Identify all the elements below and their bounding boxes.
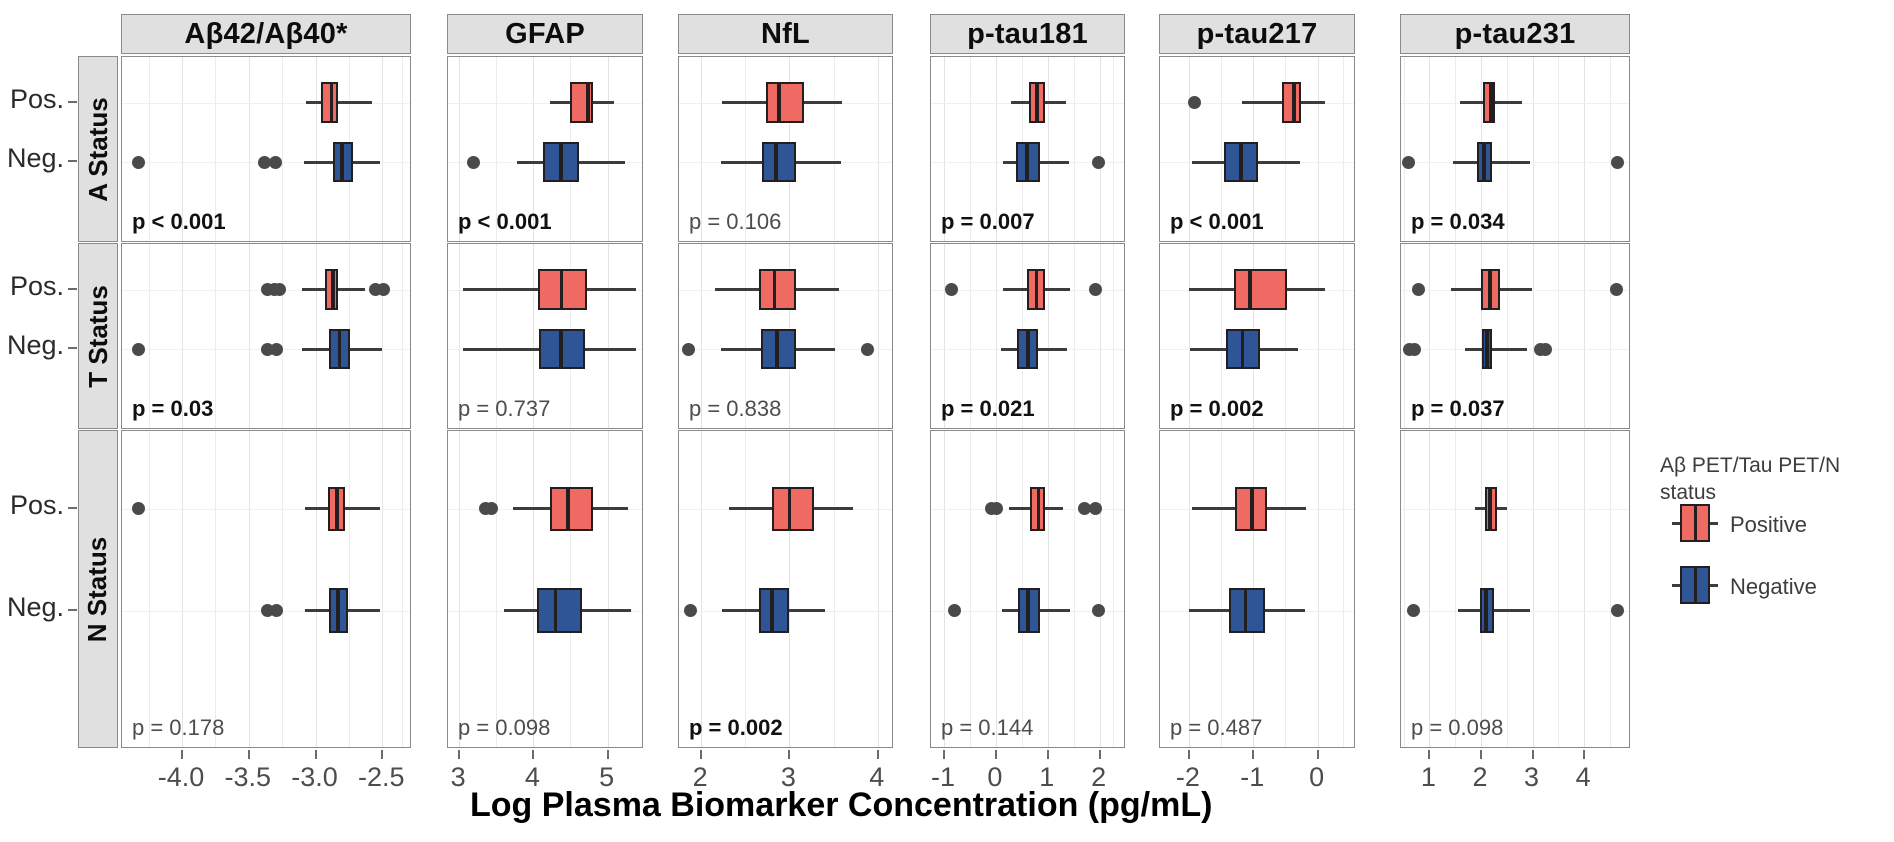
- median-line: [331, 269, 335, 310]
- box-negative[interactable]: [537, 588, 582, 633]
- y-tick: [68, 101, 77, 103]
- grid-major: [459, 431, 460, 747]
- grid-minor: [1610, 244, 1611, 428]
- outlier-point: [467, 156, 480, 169]
- outlier-point: [1412, 283, 1425, 296]
- median-line: [774, 142, 778, 183]
- median-line: [560, 269, 564, 310]
- p-value-N_Status-GFAP: p = 0.098: [458, 715, 550, 741]
- grid-major: [182, 431, 183, 747]
- grid-major: [1048, 57, 1049, 241]
- grid-minor: [970, 431, 971, 747]
- column-strip-Abeta42_Abeta40: Aβ42/Aβ40*: [121, 14, 411, 54]
- grid-major: [789, 431, 790, 747]
- outlier-point: [684, 604, 697, 617]
- median-line: [1489, 82, 1493, 123]
- x-tick: [1428, 750, 1430, 759]
- panel-T_Status-NfL: p = 0.838: [678, 243, 893, 429]
- whisker-negative: [1465, 348, 1527, 351]
- box-positive[interactable]: [759, 269, 796, 310]
- x-tick: [532, 750, 534, 759]
- panel-A_Status-Abeta42_Abeta40: p < 0.001: [121, 56, 411, 242]
- grid-minor: [282, 431, 283, 747]
- legend-title-line1: Aβ PET/Tau PET/N: [1660, 452, 1894, 479]
- outlier-point: [945, 283, 958, 296]
- grid-major: [382, 244, 383, 428]
- median-line: [1025, 142, 1029, 183]
- x-tick: [1480, 750, 1482, 759]
- median-line: [330, 82, 334, 123]
- grid-minor: [1343, 57, 1344, 241]
- grid-minor: [282, 57, 283, 241]
- x-tick: [700, 750, 702, 759]
- x-tick-label: 3: [451, 762, 466, 793]
- grid-major: [1048, 431, 1049, 747]
- column-strip-p-tau181: p-tau181: [930, 14, 1125, 54]
- p-value-T_Status-p-tau217: p = 0.002: [1170, 396, 1264, 422]
- x-tick: [788, 750, 790, 759]
- panel-A_Status-GFAP: p < 0.001: [447, 56, 643, 242]
- grid-minor: [402, 57, 403, 241]
- median-line: [777, 82, 781, 123]
- median-line: [1244, 588, 1248, 633]
- x-tick: [1252, 750, 1254, 759]
- panel-A_Status-NfL: p = 0.106: [678, 56, 893, 242]
- grid-minor: [1404, 57, 1405, 241]
- grid-major: [316, 244, 317, 428]
- column-strip-label: p-tau181: [967, 18, 1088, 51]
- y-tick: [68, 288, 77, 290]
- grid-major: [1429, 431, 1430, 747]
- median-line: [559, 329, 563, 370]
- grid-major: [1318, 57, 1319, 241]
- outlier-point: [1092, 604, 1105, 617]
- median-line: [1035, 269, 1039, 310]
- grid-minor: [834, 57, 835, 241]
- p-value-N_Status-p-tau181: p = 0.144: [941, 715, 1033, 741]
- median-line: [335, 487, 339, 532]
- x-tick: [1099, 750, 1101, 759]
- outlier-point: [1611, 604, 1624, 617]
- panel-T_Status-GFAP: p = 0.737: [447, 243, 643, 429]
- x-tick-label: -1: [1240, 762, 1264, 793]
- x-tick-label: -3.0: [291, 762, 338, 793]
- x-tick-label: 0: [1309, 762, 1324, 793]
- column-strip-label: Aβ42/Aβ40*: [184, 18, 347, 51]
- median-line: [338, 329, 342, 370]
- y-tick: [68, 609, 77, 611]
- outlier-point: [132, 343, 145, 356]
- grid-major: [878, 431, 879, 747]
- box-positive[interactable]: [766, 82, 803, 123]
- column-strip-GFAP: GFAP: [447, 14, 643, 54]
- grid-minor: [1404, 244, 1405, 428]
- median-line: [1026, 329, 1030, 370]
- panel-T_Status-p-tau217: p = 0.002: [1159, 243, 1355, 429]
- grid-major: [1533, 431, 1534, 747]
- grid-horizontal: [1401, 509, 1629, 510]
- grid-major: [1318, 244, 1319, 428]
- median-line: [1485, 329, 1489, 370]
- median-line: [1292, 82, 1296, 123]
- x-tick: [995, 750, 997, 759]
- p-value-A_Status-NfL: p = 0.106: [689, 209, 781, 235]
- x-tick: [607, 750, 609, 759]
- outlier-point: [1539, 343, 1552, 356]
- grid-minor: [1113, 57, 1114, 241]
- median-line: [773, 269, 777, 310]
- panel-N_Status-p-tau231: p = 0.098: [1400, 430, 1630, 748]
- p-value-T_Status-NfL: p = 0.838: [689, 396, 781, 422]
- median-line: [788, 487, 792, 532]
- legend-label-negative: Negative: [1730, 574, 1817, 600]
- grid-major: [382, 57, 383, 241]
- outlier-point: [269, 156, 282, 169]
- x-tick: [1047, 750, 1049, 759]
- row-strip-A_Status: A Status: [78, 56, 118, 242]
- column-strip-label: p-tau231: [1455, 18, 1576, 51]
- x-tick: [877, 750, 879, 759]
- y-label-N_Status-neg: Neg.: [0, 592, 64, 623]
- panel-N_Status-NfL: p = 0.002: [678, 430, 893, 748]
- y-tick: [68, 347, 77, 349]
- x-tick: [943, 750, 945, 759]
- median-line: [775, 329, 779, 370]
- p-value-A_Status-p-tau217: p < 0.001: [1170, 209, 1264, 235]
- median-line: [1248, 269, 1252, 310]
- grid-minor: [496, 431, 497, 747]
- grid-minor: [1074, 244, 1075, 428]
- grid-major: [1048, 244, 1049, 428]
- grid-minor: [402, 431, 403, 747]
- legend-key-positive[interactable]: [1672, 500, 1718, 546]
- outlier-point: [990, 502, 1003, 515]
- box-negative[interactable]: [762, 142, 796, 183]
- grid-minor: [1558, 244, 1559, 428]
- p-value-A_Status-GFAP: p < 0.001: [458, 209, 552, 235]
- grid-minor: [1074, 57, 1075, 241]
- grid-major: [382, 431, 383, 747]
- grid-major: [316, 431, 317, 747]
- y-label-A_Status-neg: Neg.: [0, 143, 64, 174]
- outlier-point: [132, 502, 145, 515]
- median-line: [1037, 487, 1041, 532]
- outlier-point: [132, 156, 145, 169]
- median-line: [1239, 142, 1243, 183]
- grid-major: [1189, 431, 1190, 747]
- x-tick-label: 4: [1576, 762, 1591, 793]
- median-line: [1026, 588, 1030, 633]
- p-value-N_Status-Abeta42_Abeta40: p = 0.178: [132, 715, 224, 741]
- outlier-point: [1402, 156, 1415, 169]
- grid-minor: [402, 244, 403, 428]
- grid-major: [1100, 244, 1101, 428]
- panel-T_Status-Abeta42_Abeta40: p = 0.03: [121, 243, 411, 429]
- outlier-point: [273, 283, 286, 296]
- grid-minor: [745, 431, 746, 747]
- median-line: [566, 487, 570, 532]
- panel-N_Status-p-tau181: p = 0.144: [930, 430, 1125, 748]
- grid-major: [878, 244, 879, 428]
- p-value-N_Status-p-tau231: p = 0.098: [1411, 715, 1503, 741]
- p-value-N_Status-p-tau217: p = 0.487: [1170, 715, 1262, 741]
- grid-minor: [834, 244, 835, 428]
- x-tick: [1583, 750, 1585, 759]
- grid-minor: [1558, 57, 1559, 241]
- row-strip-T_Status: T Status: [78, 243, 118, 429]
- legend-label-positive: Positive: [1730, 512, 1807, 538]
- grid-minor: [349, 431, 350, 747]
- outlier-point: [1188, 96, 1201, 109]
- x-axis-title: Log Plasma Biomarker Concentration (pg/m…: [470, 786, 1212, 825]
- column-strip-label: GFAP: [505, 18, 585, 51]
- panel-T_Status-p-tau231: p = 0.037: [1400, 243, 1630, 429]
- panel-A_Status-p-tau231: p = 0.034: [1400, 56, 1630, 242]
- grid-major: [944, 431, 945, 747]
- outlier-point: [1089, 283, 1102, 296]
- grid-major: [1584, 431, 1585, 747]
- figure-root: Aβ42/Aβ40*GFAPNfLp-tau181p-tau217p-tau23…: [0, 0, 1894, 842]
- grid-minor: [1113, 244, 1114, 428]
- y-label-T_Status-pos: Pos.: [0, 271, 64, 302]
- p-value-T_Status-p-tau181: p = 0.021: [941, 396, 1035, 422]
- grid-major: [996, 431, 997, 747]
- box-positive[interactable]: [1234, 269, 1287, 310]
- grid-minor: [834, 431, 835, 747]
- y-tick: [68, 160, 77, 162]
- x-tick-label: -3.5: [225, 762, 272, 793]
- panel-A_Status-p-tau217: p < 0.001: [1159, 56, 1355, 242]
- p-value-T_Status-p-tau231: p = 0.037: [1411, 396, 1505, 422]
- median-line: [1482, 142, 1486, 183]
- median-line: [1488, 487, 1492, 532]
- outlier-point: [682, 343, 695, 356]
- whisker-positive: [306, 101, 371, 104]
- grid-major: [608, 57, 609, 241]
- median-line: [1484, 588, 1488, 633]
- row-strip-N_Status: N Status: [78, 430, 118, 748]
- panel-N_Status-Abeta42_Abeta40: p = 0.178: [121, 430, 411, 748]
- outlier-point: [861, 343, 874, 356]
- median-line: [586, 82, 590, 123]
- grid-major: [316, 57, 317, 241]
- grid-minor: [1404, 431, 1405, 747]
- grid-minor: [215, 431, 216, 747]
- box-positive[interactable]: [550, 487, 593, 532]
- grid-minor: [1343, 431, 1344, 747]
- whisker-negative: [1458, 609, 1530, 612]
- x-tick: [1532, 750, 1534, 759]
- median-line: [336, 588, 340, 633]
- y-tick: [68, 507, 77, 509]
- grid-major: [608, 431, 609, 747]
- panel-T_Status-p-tau181: p = 0.021: [930, 243, 1125, 429]
- outlier-point: [270, 343, 283, 356]
- p-value-N_Status-NfL: p = 0.002: [689, 715, 783, 741]
- p-value-A_Status-p-tau231: p = 0.034: [1411, 209, 1505, 235]
- y-label-T_Status-neg: Neg.: [0, 330, 64, 361]
- p-value-T_Status-GFAP: p = 0.737: [458, 396, 550, 422]
- box-negative[interactable]: [759, 588, 789, 633]
- p-value-A_Status-Abeta42_Abeta40: p < 0.001: [132, 209, 226, 235]
- p-value-A_Status-p-tau181: p = 0.007: [941, 209, 1035, 235]
- y-label-N_Status-pos: Pos.: [0, 490, 64, 521]
- outlier-point: [1408, 343, 1421, 356]
- grid-major: [1533, 244, 1534, 428]
- grid-major: [1584, 244, 1585, 428]
- grid-major: [878, 57, 879, 241]
- grid-major: [1100, 431, 1101, 747]
- grid-minor: [1507, 431, 1508, 747]
- x-tick: [248, 750, 250, 759]
- column-strip-NfL: NfL: [678, 14, 893, 54]
- x-tick-label: -4.0: [158, 762, 205, 793]
- x-tick-label: 2: [1472, 762, 1487, 793]
- grid-minor: [1113, 431, 1114, 747]
- panel-N_Status-p-tau217: p = 0.487: [1159, 430, 1355, 748]
- grid-minor: [1221, 431, 1222, 747]
- row-strip-label: N Status: [83, 536, 114, 641]
- grid-minor: [1285, 431, 1286, 747]
- median-line: [340, 142, 344, 183]
- outlier-point: [948, 604, 961, 617]
- column-strip-p-tau231: p-tau231: [1400, 14, 1630, 54]
- grid-major: [1533, 57, 1534, 241]
- column-strip-p-tau217: p-tau217: [1159, 14, 1355, 54]
- median-line: [770, 588, 774, 633]
- grid-major: [249, 431, 250, 747]
- legend-title: Aβ PET/Tau PET/N status: [1660, 452, 1894, 507]
- y-label-A_Status-pos: Pos.: [0, 84, 64, 115]
- median-line: [1241, 329, 1245, 370]
- panel-N_Status-GFAP: p = 0.098: [447, 430, 643, 748]
- grid-minor: [215, 244, 216, 428]
- median-line: [559, 142, 563, 183]
- median-line: [1035, 82, 1039, 123]
- x-tick: [458, 750, 460, 759]
- grid-minor: [1558, 431, 1559, 747]
- legend-median-negative: [1694, 566, 1697, 604]
- grid-minor: [1074, 431, 1075, 747]
- x-tick-label: -2.5: [358, 762, 405, 793]
- column-strip-label: p-tau217: [1197, 18, 1318, 51]
- outlier-point: [1407, 604, 1420, 617]
- grid-minor: [1610, 431, 1611, 747]
- x-tick: [1188, 750, 1190, 759]
- x-tick: [381, 750, 383, 759]
- x-tick: [315, 750, 317, 759]
- row-strip-label: T Status: [83, 285, 114, 388]
- outlier-point: [1611, 156, 1624, 169]
- outlier-point: [1092, 156, 1105, 169]
- x-tick-label: 1: [1421, 762, 1436, 793]
- grid-major: [701, 431, 702, 747]
- column-strip-label: NfL: [761, 18, 810, 51]
- median-line: [1250, 487, 1254, 532]
- panel-A_Status-p-tau181: p = 0.007: [930, 56, 1125, 242]
- row-strip-label: A Status: [83, 97, 114, 202]
- grid-minor: [1343, 244, 1344, 428]
- grid-major: [533, 431, 534, 747]
- x-tick: [1317, 750, 1319, 759]
- outlier-point: [1610, 283, 1623, 296]
- median-line: [554, 588, 558, 633]
- grid-minor: [1507, 244, 1508, 428]
- grid-major: [249, 57, 250, 241]
- x-tick-label: 3: [1524, 762, 1539, 793]
- grid-minor: [282, 244, 283, 428]
- grid-minor: [1455, 431, 1456, 747]
- box-positive[interactable]: [772, 487, 814, 532]
- grid-minor: [1610, 57, 1611, 241]
- median-line: [1488, 269, 1492, 310]
- grid-major: [1318, 431, 1319, 747]
- p-value-T_Status-Abeta42_Abeta40: p = 0.03: [132, 396, 213, 422]
- grid-major: [249, 244, 250, 428]
- grid-major: [1584, 57, 1585, 241]
- outlier-point: [377, 283, 390, 296]
- legend-key-negative[interactable]: [1672, 562, 1718, 608]
- x-tick: [181, 750, 183, 759]
- grid-major: [608, 244, 609, 428]
- legend-median-positive: [1694, 504, 1697, 542]
- grid-minor: [149, 431, 150, 747]
- grid-minor: [1507, 57, 1508, 241]
- grid-major: [1100, 57, 1101, 241]
